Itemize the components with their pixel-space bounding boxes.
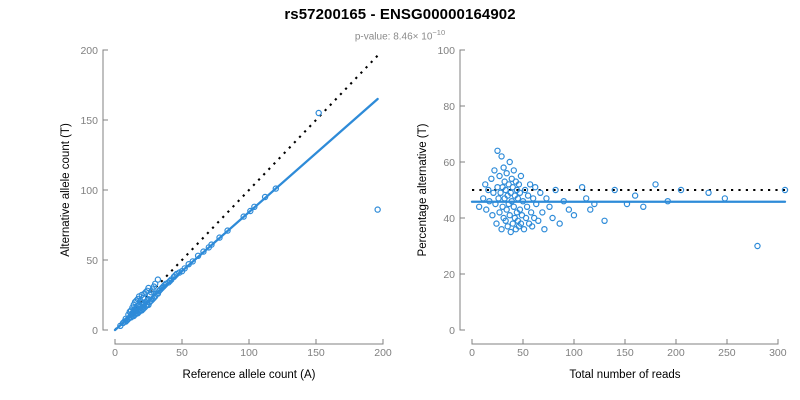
data-point <box>375 207 380 212</box>
y-axis-tick-label: 60 <box>443 157 455 169</box>
y-axis-tick-label: 40 <box>443 213 455 225</box>
data-point <box>492 168 497 173</box>
data-point <box>580 185 585 190</box>
data-point <box>544 196 549 201</box>
y-axis-line <box>460 50 465 330</box>
data-point <box>507 213 512 218</box>
x-axis-tick-label: 200 <box>667 347 685 359</box>
data-point <box>501 165 506 170</box>
x-axis-tick-label: 50 <box>517 347 529 359</box>
data-point <box>536 218 541 223</box>
data-point <box>496 196 501 201</box>
y-axis-tick-label: 200 <box>80 45 98 57</box>
x-axis-tick-label: 100 <box>240 347 258 359</box>
data-point <box>524 204 529 209</box>
data-point <box>521 227 526 232</box>
y-axis-tick-label: 20 <box>443 269 455 281</box>
data-point <box>499 227 504 232</box>
data-point <box>155 277 160 282</box>
data-point <box>641 204 646 209</box>
data-point <box>722 196 727 201</box>
x-axis-tick-label: 50 <box>176 347 188 359</box>
data-point <box>490 213 495 218</box>
data-point <box>499 154 504 159</box>
data-point <box>477 204 482 209</box>
data-point-group <box>477 148 788 248</box>
data-point <box>542 227 547 232</box>
data-point <box>484 207 489 212</box>
x-axis-tick-label: 200 <box>374 347 392 359</box>
data-point <box>494 221 499 226</box>
y-axis-tick-label: 0 <box>92 325 98 337</box>
y-axis-tick-label: 100 <box>80 185 98 197</box>
data-point <box>497 210 502 215</box>
data-point <box>508 229 513 234</box>
data-point <box>504 171 509 176</box>
y-axis-tick-label: 100 <box>437 45 455 57</box>
right-plot-svg: 020406080100050100150200250300Total numb… <box>400 0 800 400</box>
x-axis-tick-label: 150 <box>616 347 634 359</box>
y-axis-tick-label: 150 <box>80 115 98 127</box>
data-point <box>531 196 536 201</box>
x-axis-tick-label: 0 <box>469 347 475 359</box>
data-point-group <box>118 110 380 328</box>
x-axis-tick-label: 0 <box>112 347 118 359</box>
x-axis-tick-label: 150 <box>307 347 325 359</box>
y-axis-title: Percentage alternative (T) <box>417 123 429 256</box>
x-axis-tick-label: 300 <box>769 347 787 359</box>
data-point <box>533 185 538 190</box>
x-axis-title: Reference allele count (A) <box>183 369 316 381</box>
y-axis-tick-label: 80 <box>443 101 455 113</box>
data-point <box>497 173 502 178</box>
data-point <box>528 182 533 187</box>
data-point <box>602 218 607 223</box>
data-point <box>523 215 528 220</box>
x-axis-tick-label: 100 <box>565 347 583 359</box>
data-point <box>529 210 534 215</box>
data-point <box>518 173 523 178</box>
data-point <box>483 182 488 187</box>
data-point <box>316 110 321 115</box>
data-point <box>498 190 503 195</box>
data-point <box>495 148 500 153</box>
scatter-panel-percentage: 020406080100050100150200250300Total numb… <box>400 0 800 400</box>
x-axis-tick-label: 250 <box>718 347 736 359</box>
data-point <box>510 221 515 226</box>
data-point <box>706 190 711 195</box>
data-point <box>755 243 760 248</box>
data-point <box>511 204 516 209</box>
data-point <box>505 224 510 229</box>
data-point <box>547 204 552 209</box>
data-point <box>507 159 512 164</box>
data-point <box>571 213 576 218</box>
data-point <box>525 193 530 198</box>
data-point <box>566 207 571 212</box>
left-plot-svg: 050100150200050100150200Reference allele… <box>0 0 400 400</box>
data-point <box>550 215 555 220</box>
data-point <box>588 207 593 212</box>
data-point <box>511 168 516 173</box>
data-point <box>491 190 496 195</box>
data-point <box>540 210 545 215</box>
y-axis-title: Alternative allele count (T) <box>60 123 72 257</box>
figure-canvas: rs57200165 - ENSG00000164902 p-value: 8.… <box>0 0 800 400</box>
data-point <box>584 196 589 201</box>
data-point <box>653 182 658 187</box>
data-point <box>495 185 500 190</box>
y-axis-tick-label: 0 <box>449 325 455 337</box>
data-point <box>504 207 509 212</box>
scatter-panel-allele-counts: 050100150200050100150200Reference allele… <box>0 0 400 400</box>
data-point <box>633 193 638 198</box>
y-axis-tick-label: 50 <box>86 255 98 267</box>
data-point <box>489 176 494 181</box>
data-point <box>481 196 486 201</box>
data-point <box>557 221 562 226</box>
x-axis-title: Total number of reads <box>569 369 680 381</box>
